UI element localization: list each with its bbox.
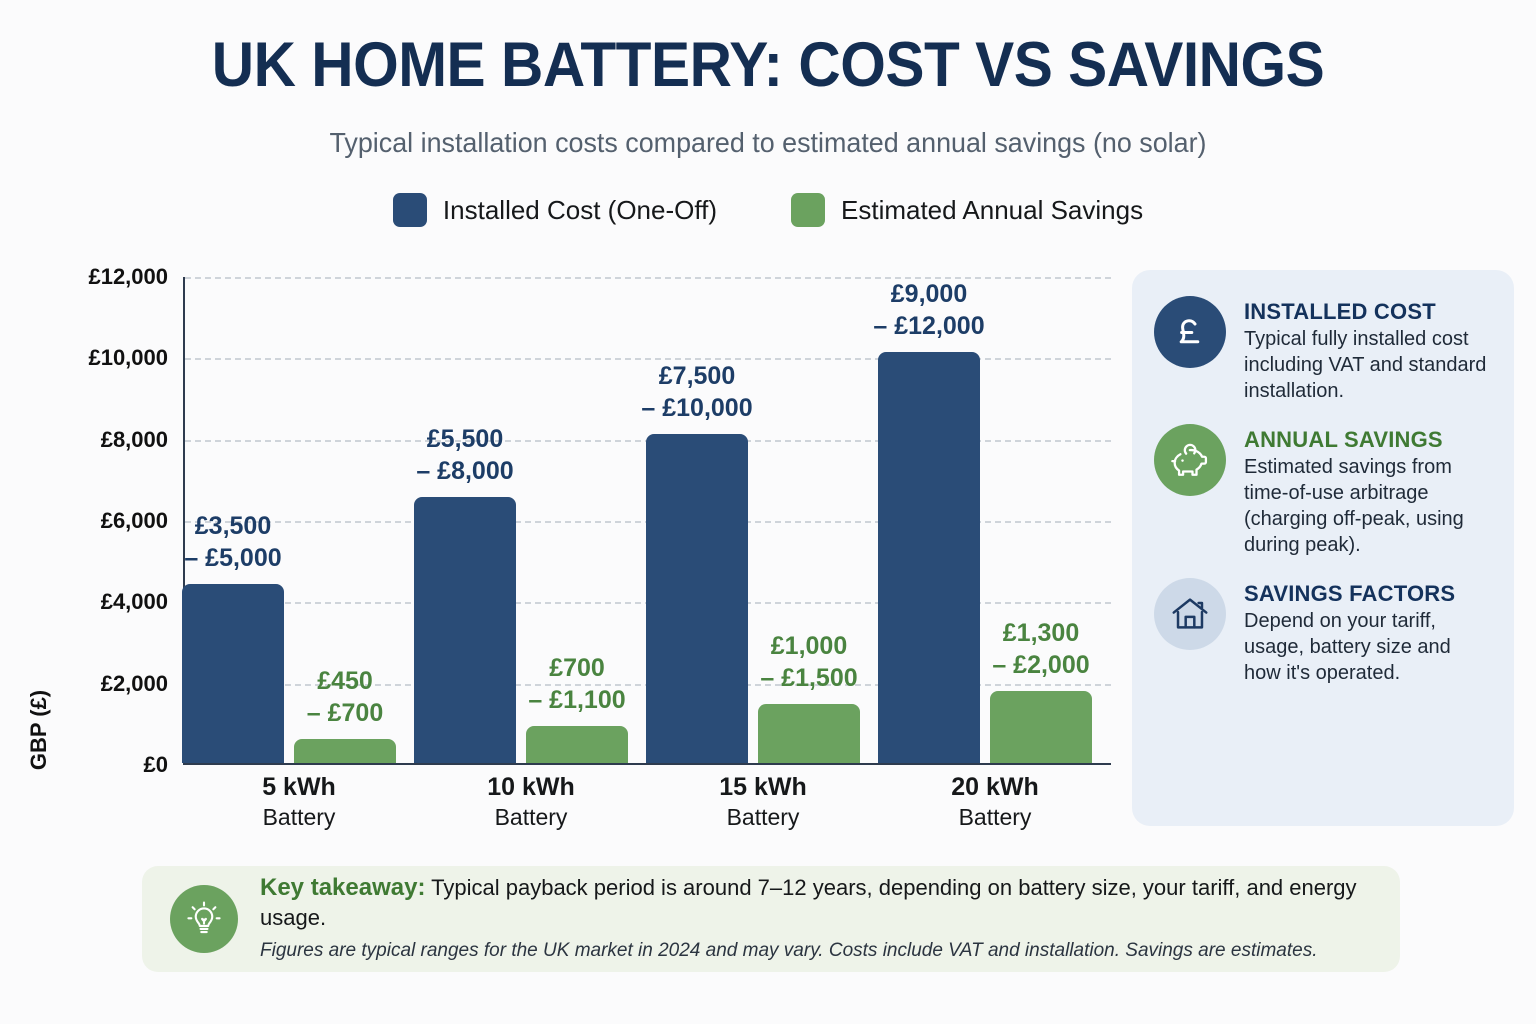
bar-value-label: £7,500– £10,000 [618, 360, 776, 424]
bar-cost [414, 497, 516, 763]
y-axis-tick: £4,000 [8, 589, 168, 615]
plot-area: £3,500– £5,000£450– £700£5,500– £8,000£7… [183, 277, 1111, 765]
key-takeaway-panel: Key takeaway: Typical payback period is … [142, 866, 1400, 972]
bar-chart: GBP (£) £0£2,000£4,000£6,000£8,000£10,00… [0, 250, 1130, 850]
x-axis-label: 5 kWhBattery [183, 772, 415, 832]
legend-item-annual-savings: Estimated Annual Savings [791, 193, 1143, 227]
takeaway-body: Typical payback period is around 7–12 ye… [260, 875, 1357, 930]
info-item-installed-cost: INSTALLED COST Typical fully installed c… [1154, 296, 1492, 404]
bar-cost [646, 434, 748, 763]
takeaway-text-block: Key takeaway: Typical payback period is … [260, 873, 1372, 965]
bar-savings [758, 704, 860, 763]
info-item-annual-savings: ANNUAL SAVINGS Estimated savings from ti… [1154, 424, 1492, 558]
bar-value-label: £1,300– £2,000 [962, 617, 1120, 681]
x-axis-label: 20 kWhBattery [879, 772, 1111, 832]
bar-savings [990, 691, 1092, 763]
y-axis-tick: £10,000 [8, 345, 168, 371]
page-subtitle: Typical installation costs compared to e… [31, 124, 1506, 162]
x-axis-label: 15 kWhBattery [647, 772, 879, 832]
bar-savings [526, 726, 628, 763]
legend-label-annual-savings: Estimated Annual Savings [841, 195, 1143, 226]
info-title-annual-savings: ANNUAL SAVINGS [1244, 426, 1492, 454]
lightbulb-icon [170, 885, 238, 953]
piggy-bank-icon [1154, 424, 1226, 496]
info-desc-annual-savings: Estimated savings from time-of-use arbit… [1244, 454, 1492, 558]
info-desc-installed-cost: Typical fully installed cost including V… [1244, 326, 1492, 404]
info-sidepanel: INSTALLED COST Typical fully installed c… [1132, 270, 1514, 826]
y-axis-tick: £8,000 [8, 427, 168, 453]
info-title-installed-cost: INSTALLED COST [1244, 298, 1492, 326]
info-title-savings-factors: SAVINGS FACTORS [1244, 580, 1492, 608]
pound-icon [1154, 296, 1226, 368]
legend-item-installed-cost: Installed Cost (One-Off) [393, 193, 717, 227]
y-axis-ticks: £0£2,000£4,000£6,000£8,000£10,000£12,000 [0, 277, 168, 765]
legend-swatch-installed-cost [393, 193, 427, 227]
infographic-page: UK HOME BATTERY: COST VS SAVINGS Typical… [0, 0, 1536, 1024]
bar-value-label: £5,500– £8,000 [386, 423, 544, 487]
y-axis-tick: £12,000 [8, 264, 168, 290]
y-axis-tick: £6,000 [8, 508, 168, 534]
takeaway-line: Key takeaway: Typical payback period is … [260, 873, 1372, 933]
page-title: UK HOME BATTERY: COST VS SAVINGS [54, 28, 1482, 102]
info-text-savings-factors: SAVINGS FACTORS Depend on your tariff, u… [1244, 578, 1492, 686]
bar-value-label: £9,000– £12,000 [850, 278, 1008, 342]
bar-value-label: £3,500– £5,000 [154, 510, 312, 574]
bar-value-label: £1,000– £1,500 [730, 630, 888, 694]
info-text-annual-savings: ANNUAL SAVINGS Estimated savings from ti… [1244, 424, 1492, 558]
info-item-savings-factors: SAVINGS FACTORS Depend on your tariff, u… [1154, 578, 1492, 686]
info-text-installed-cost: INSTALLED COST Typical fully installed c… [1244, 296, 1492, 404]
y-axis-tick: £0 [8, 752, 168, 778]
house-icon [1154, 578, 1226, 650]
legend-label-installed-cost: Installed Cost (One-Off) [443, 195, 717, 226]
info-desc-savings-factors: Depend on your tariff, usage, battery si… [1244, 608, 1492, 686]
bar-savings [294, 739, 396, 763]
x-axis-label: 10 kWhBattery [415, 772, 647, 832]
x-axis-labels: 5 kWhBattery10 kWhBattery15 kWhBattery20… [183, 772, 1111, 842]
legend-swatch-annual-savings [791, 193, 825, 227]
bar-value-label: £450– £700 [266, 665, 424, 729]
takeaway-strong: Key takeaway: [260, 874, 425, 901]
y-axis-tick: £2,000 [8, 671, 168, 697]
takeaway-footnote: Figures are typical ranges for the UK ma… [260, 937, 1372, 965]
bar-cost [878, 352, 980, 763]
chart-legend: Installed Cost (One-Off) Estimated Annua… [0, 193, 1536, 227]
bar-value-label: £700– £1,100 [498, 652, 656, 716]
